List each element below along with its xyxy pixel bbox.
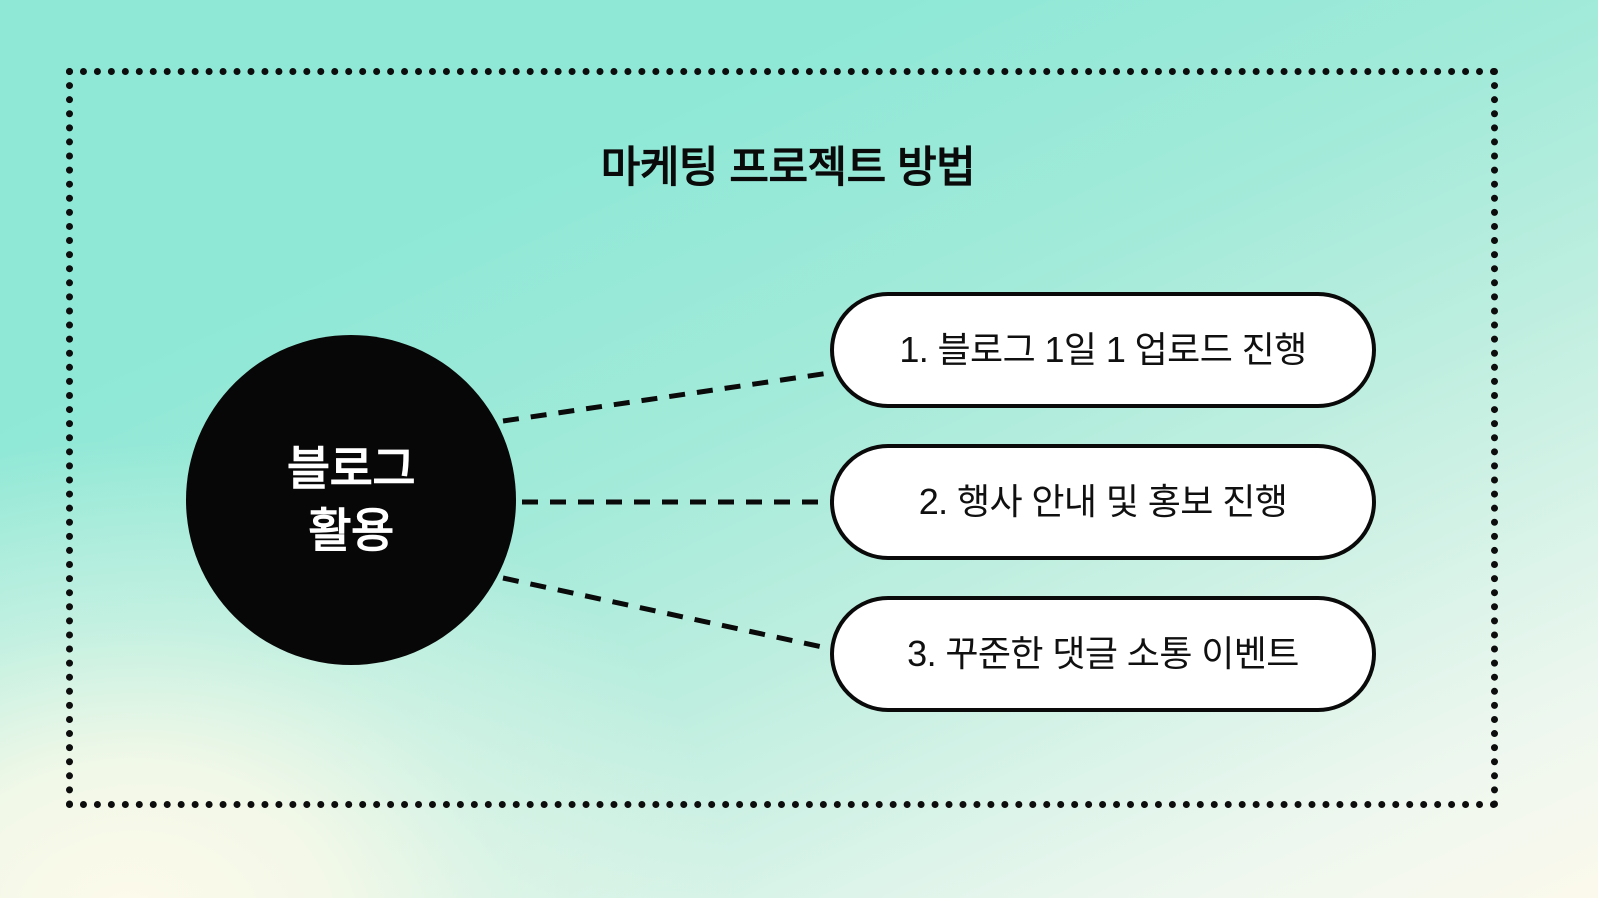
item-pill-1[interactable]: 1. 블로그 1일 1 업로드 진행 xyxy=(830,292,1376,408)
diagram-title: 마케팅 프로젝트 방법 xyxy=(0,143,1598,194)
connector-line-1 xyxy=(503,372,836,421)
item-pill-3[interactable]: 3. 꾸준한 댓글 소통 이벤트 xyxy=(830,596,1376,712)
hub-label-line-2: 활용 xyxy=(308,500,393,562)
connector-line-3 xyxy=(503,578,836,650)
item-pill-1-label: 1. 블로그 1일 1 업로드 진행 xyxy=(899,332,1306,368)
item-pill-3-label: 3. 꾸준한 댓글 소통 이벤트 xyxy=(907,636,1299,672)
item-pill-2-label: 2. 행사 안내 및 홍보 진행 xyxy=(919,484,1288,520)
hub-circle-blog-usage[interactable]: 블로그 활용 xyxy=(186,335,516,665)
diagram-stage: 마케팅 프로젝트 방법 블로그 활용 1. 블로그 1일 1 업로드 진행 2.… xyxy=(0,0,1598,898)
diagram-title-text: 마케팅 프로젝트 방법 xyxy=(601,143,975,194)
item-pill-2[interactable]: 2. 행사 안내 및 홍보 진행 xyxy=(830,444,1376,560)
hub-label-line-1: 블로그 xyxy=(287,438,415,500)
